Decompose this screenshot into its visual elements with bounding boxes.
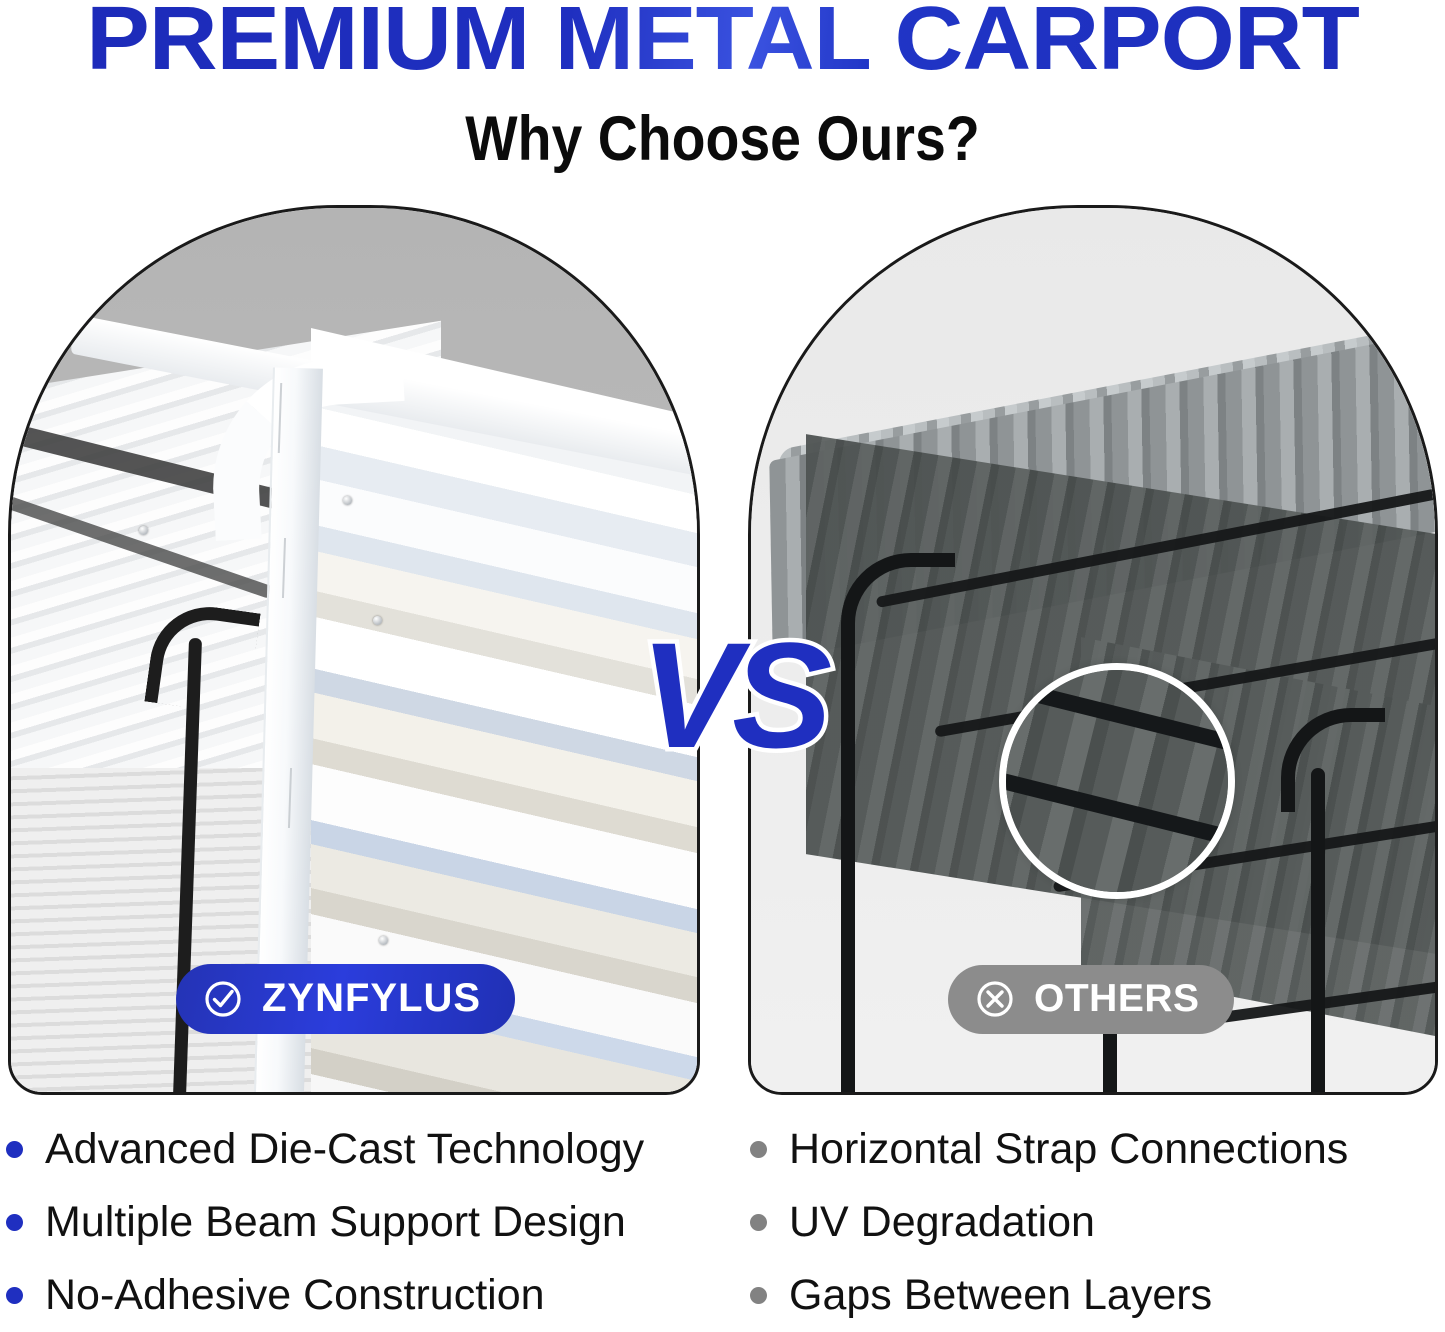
list-item: UV Degradation xyxy=(750,1186,1440,1259)
page-title: PREMIUM METAL CARPORT xyxy=(0,0,1445,86)
feature-label: UV Degradation xyxy=(789,1198,1095,1247)
bullet-dot-icon xyxy=(6,1141,23,1158)
brand-badge-others-label: OTHERS xyxy=(1034,977,1200,1021)
others-zoom-callout xyxy=(999,663,1235,899)
feature-label: Advanced Die-Cast Technology xyxy=(45,1125,644,1174)
brand-badge-others: OTHERS xyxy=(948,965,1234,1034)
list-item: Horizontal Strap Connections xyxy=(750,1113,1440,1186)
list-item: No-Adhesive Construction xyxy=(6,1259,706,1332)
feature-list-ours: Advanced Die-Cast Technology Multiple Be… xyxy=(6,1113,706,1332)
feature-list-others: Horizontal Strap Connections UV Degradat… xyxy=(750,1113,1440,1332)
feature-label: Multiple Beam Support Design xyxy=(45,1198,626,1247)
bullet-dot-icon xyxy=(750,1141,767,1158)
bullet-dot-icon xyxy=(6,1214,23,1231)
check-circle-icon xyxy=(202,978,244,1020)
comparison-panel-others xyxy=(748,205,1438,1095)
comparison-panel-ours xyxy=(8,205,700,1095)
ours-screw xyxy=(373,616,382,625)
brand-badge-ours: ZYNFYLUS xyxy=(176,964,515,1034)
brand-badge-ours-label: ZYNFYLUS xyxy=(262,976,481,1021)
list-item: Multiple Beam Support Design xyxy=(6,1186,706,1259)
others-frame-post-right xyxy=(1311,768,1325,1095)
feature-label: Gaps Between Layers xyxy=(789,1271,1212,1320)
feature-label: No-Adhesive Construction xyxy=(45,1271,545,1320)
bullet-dot-icon xyxy=(750,1214,767,1231)
bullet-dot-icon xyxy=(6,1287,23,1304)
versus-label: VS xyxy=(640,620,824,770)
ours-screw xyxy=(379,936,388,945)
list-item: Gaps Between Layers xyxy=(750,1259,1440,1332)
x-circle-icon xyxy=(974,978,1016,1020)
ours-screw xyxy=(343,496,352,505)
others-frame-post-left xyxy=(841,638,855,1095)
page-subtitle: Why Choose Ours? xyxy=(87,103,1359,175)
bullet-dot-icon xyxy=(750,1287,767,1304)
ours-screw xyxy=(139,526,148,535)
feature-label: Horizontal Strap Connections xyxy=(789,1125,1348,1174)
list-item: Advanced Die-Cast Technology xyxy=(6,1113,706,1186)
